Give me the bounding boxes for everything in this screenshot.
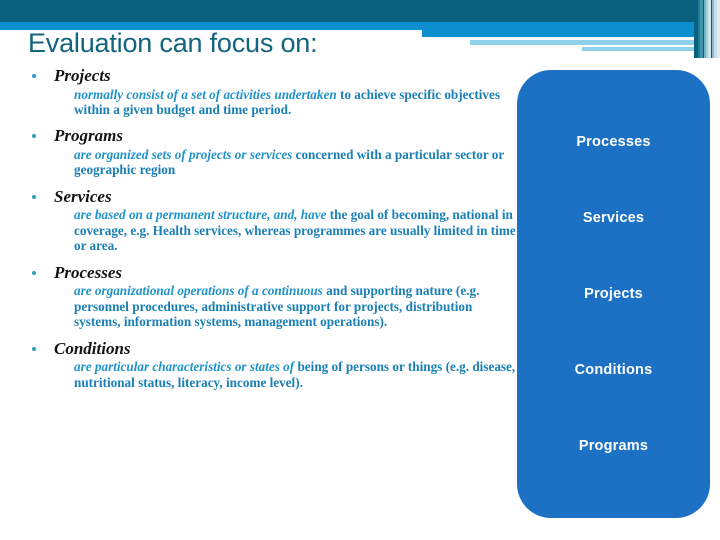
bullet-heading-label: Projects [54,66,111,85]
bullet-description-lead: are organizational operations of a conti… [74,283,323,298]
bullet-description: are particular characteristics or states… [26,359,518,390]
bullet-heading: Services [26,187,518,207]
bullet-description-lead: normally consist of a set of activities … [74,87,337,102]
panel-item-processes: Processes [576,134,650,150]
panel-item-projects: Projects [584,286,643,302]
bullet-list: Projects normally consist of a set of ac… [26,66,518,399]
list-item: Projects normally consist of a set of ac… [26,66,518,117]
bullet-heading: Processes [26,263,518,283]
header-accent-rule-gap [470,47,582,51]
list-item: Programs are organized sets of projects … [26,126,518,177]
bullet-description: normally consist of a set of activities … [26,87,518,118]
list-item: Conditions are particular characteristic… [26,339,518,390]
bullet-description-lead: are based on a permanent structure, and,… [74,207,326,222]
bullet-heading: Conditions [26,339,518,359]
bullet-description-lead: are organized sets of projects or servic… [74,147,292,162]
bullet-dot-icon [32,271,36,275]
slide: Evaluation can focus on: Projects normal… [0,0,720,540]
bullet-description: are organized sets of projects or servic… [26,147,518,178]
panel-item-services: Services [583,210,644,226]
header-edge-stripes [694,0,720,58]
focus-areas-panel: Processes Services Projects Conditions P… [517,70,710,518]
bullet-heading-label: Services [54,187,112,206]
bullet-description: are organizational operations of a conti… [26,283,518,329]
list-item: Processes are organizational operations … [26,263,518,330]
bullet-heading-label: Conditions [54,339,131,358]
header-accent-rule-primary [422,30,720,37]
bullet-heading-label: Processes [54,263,122,282]
bullet-description-lead: are particular characteristics or states… [74,359,294,374]
bullet-dot-icon [32,195,36,199]
header-band-dark [0,0,720,22]
bullet-heading-label: Programs [54,126,123,145]
panel-item-programs: Programs [579,438,648,454]
page-title: Evaluation can focus on: [28,28,317,59]
bullet-dot-icon [32,347,36,351]
bullet-heading: Programs [26,126,518,146]
bullet-dot-icon [32,134,36,138]
bullet-dot-icon [32,74,36,78]
bullet-description: are based on a permanent structure, and,… [26,207,518,253]
list-item: Services are based on a permanent struct… [26,187,518,254]
panel-item-conditions: Conditions [575,362,653,378]
bullet-heading: Projects [26,66,518,86]
